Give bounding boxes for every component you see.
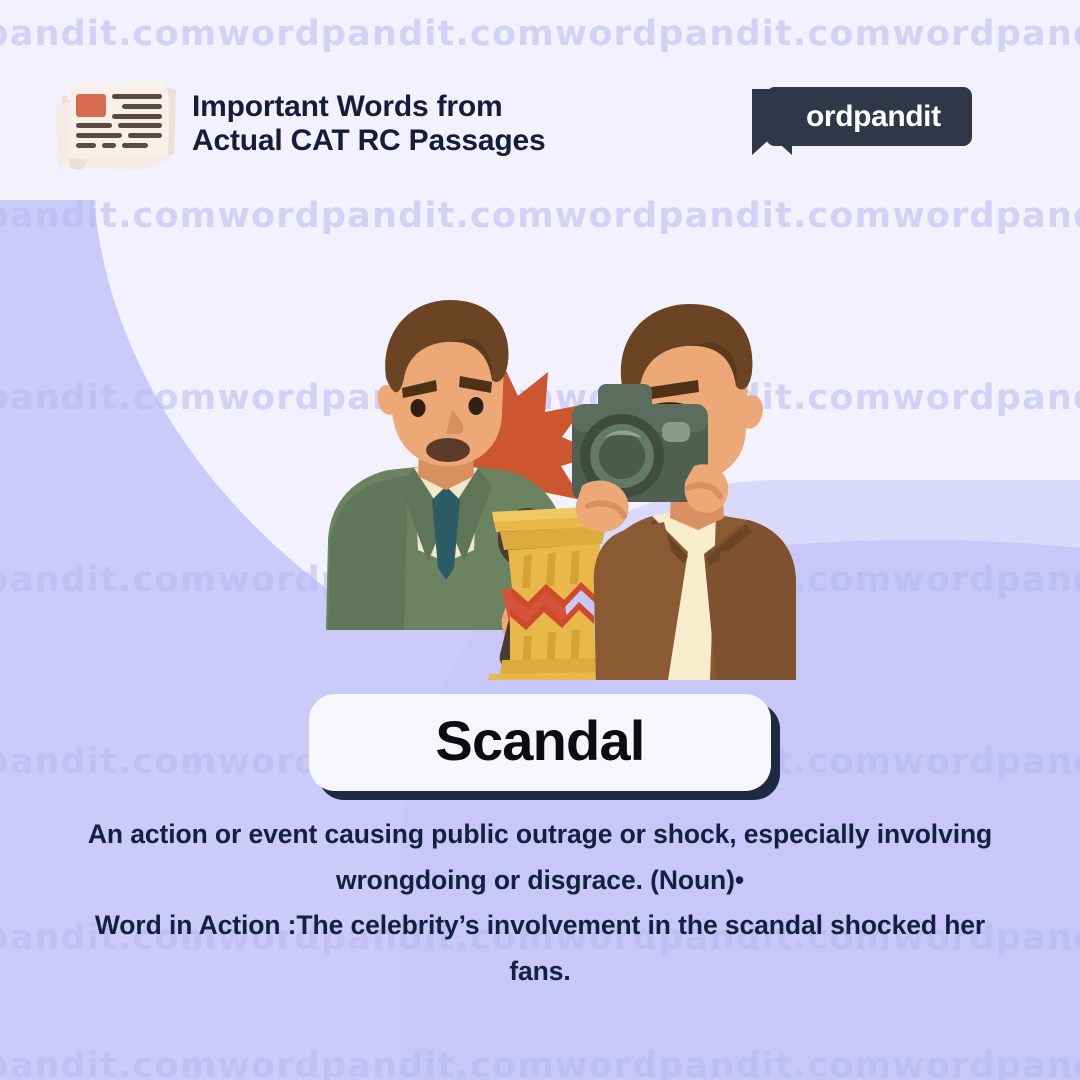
photographer-figure — [572, 304, 796, 680]
illustration-scandal — [296, 300, 796, 680]
newspaper-icon — [52, 74, 184, 172]
word-box-wrapper: Scandal — [0, 694, 1080, 791]
page-title-line-2: Actual CAT RC Passages — [192, 124, 546, 158]
poster-canvas: wordpandit.comwordpandit.comwordpandit.c… — [0, 0, 1080, 1080]
page-title-line-1: Important Words from — [192, 90, 546, 124]
definition-line-1: An action or event causing public outrag… — [36, 812, 1044, 858]
logo-text: ordpandit — [806, 100, 941, 134]
wordpandit-logo[interactable]: ordpandit — [748, 87, 972, 146]
word-term: Scandal — [375, 713, 705, 769]
page-title: Important Words from Actual CAT RC Passa… — [192, 90, 546, 158]
poster-header: Important Words from Actual CAT RC Passa… — [0, 0, 1080, 200]
definition-line-3: Word in Action :The celebrity’s involvem… — [36, 903, 1044, 949]
definition-line-2: wrongdoing or disgrace. (Noun)• — [36, 858, 1044, 904]
bookmark-w-icon — [748, 87, 796, 165]
definition-block: An action or event causing public outrag… — [36, 812, 1044, 994]
definition-line-4: fans. — [36, 949, 1044, 995]
word-box[interactable]: Scandal — [309, 694, 771, 791]
